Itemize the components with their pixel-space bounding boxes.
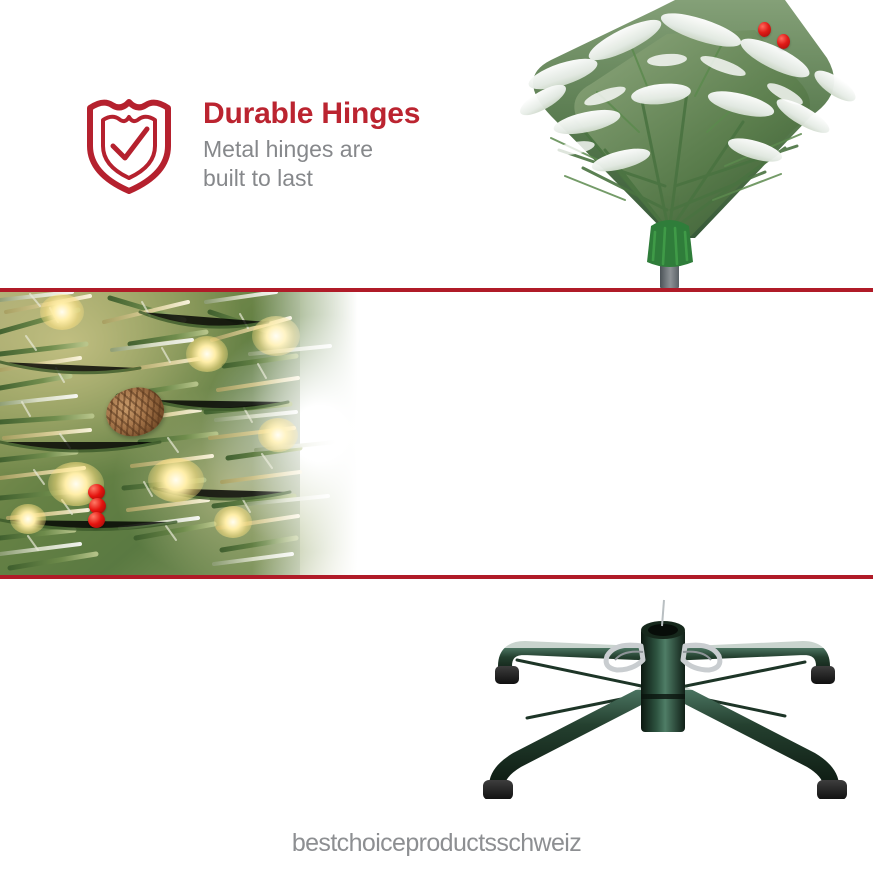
tree-light: [10, 504, 46, 534]
photo-fade-edge: [252, 292, 372, 575]
berry: [758, 22, 771, 37]
shield-check-icon: [83, 92, 175, 196]
feature-panel-pvc-branches: PVC Branches Flame-retardant for safety …: [0, 292, 873, 575]
feature-panel-durable-hinges: Durable Hinges Metal hinges are built to…: [0, 0, 873, 288]
feature-text-durable-hinges: Durable Hinges Metal hinges are built to…: [203, 97, 420, 193]
tree-light: [148, 458, 204, 502]
flocked-tree-graphic: [455, 0, 873, 288]
flocked-christmas-tree-photo: [455, 0, 873, 288]
tree-light: [214, 506, 252, 538]
divider-bottom: [0, 575, 873, 579]
infographic-canvas: Durable Hinges Metal hinges are built to…: [0, 0, 873, 873]
tree-light: [40, 294, 84, 330]
berry: [777, 34, 790, 49]
feature-title: Durable Hinges: [203, 97, 420, 131]
feature-panel-sturdy-base: Sturdy Base A reliable stand for your tr…: [0, 579, 873, 809]
footer-brand: bestchoiceproductsschweiz: [0, 829, 873, 858]
divider-top: [0, 288, 873, 292]
feature-subtitle-line1: Metal hinges are: [203, 135, 420, 164]
tree-light: [186, 336, 228, 372]
tree-stand-graphic: [455, 594, 873, 799]
feature-subtitle-line2: built to last: [203, 164, 420, 193]
metal-tree-stand-photo: [455, 594, 873, 799]
lit-tree-branches-photo: [0, 292, 372, 575]
